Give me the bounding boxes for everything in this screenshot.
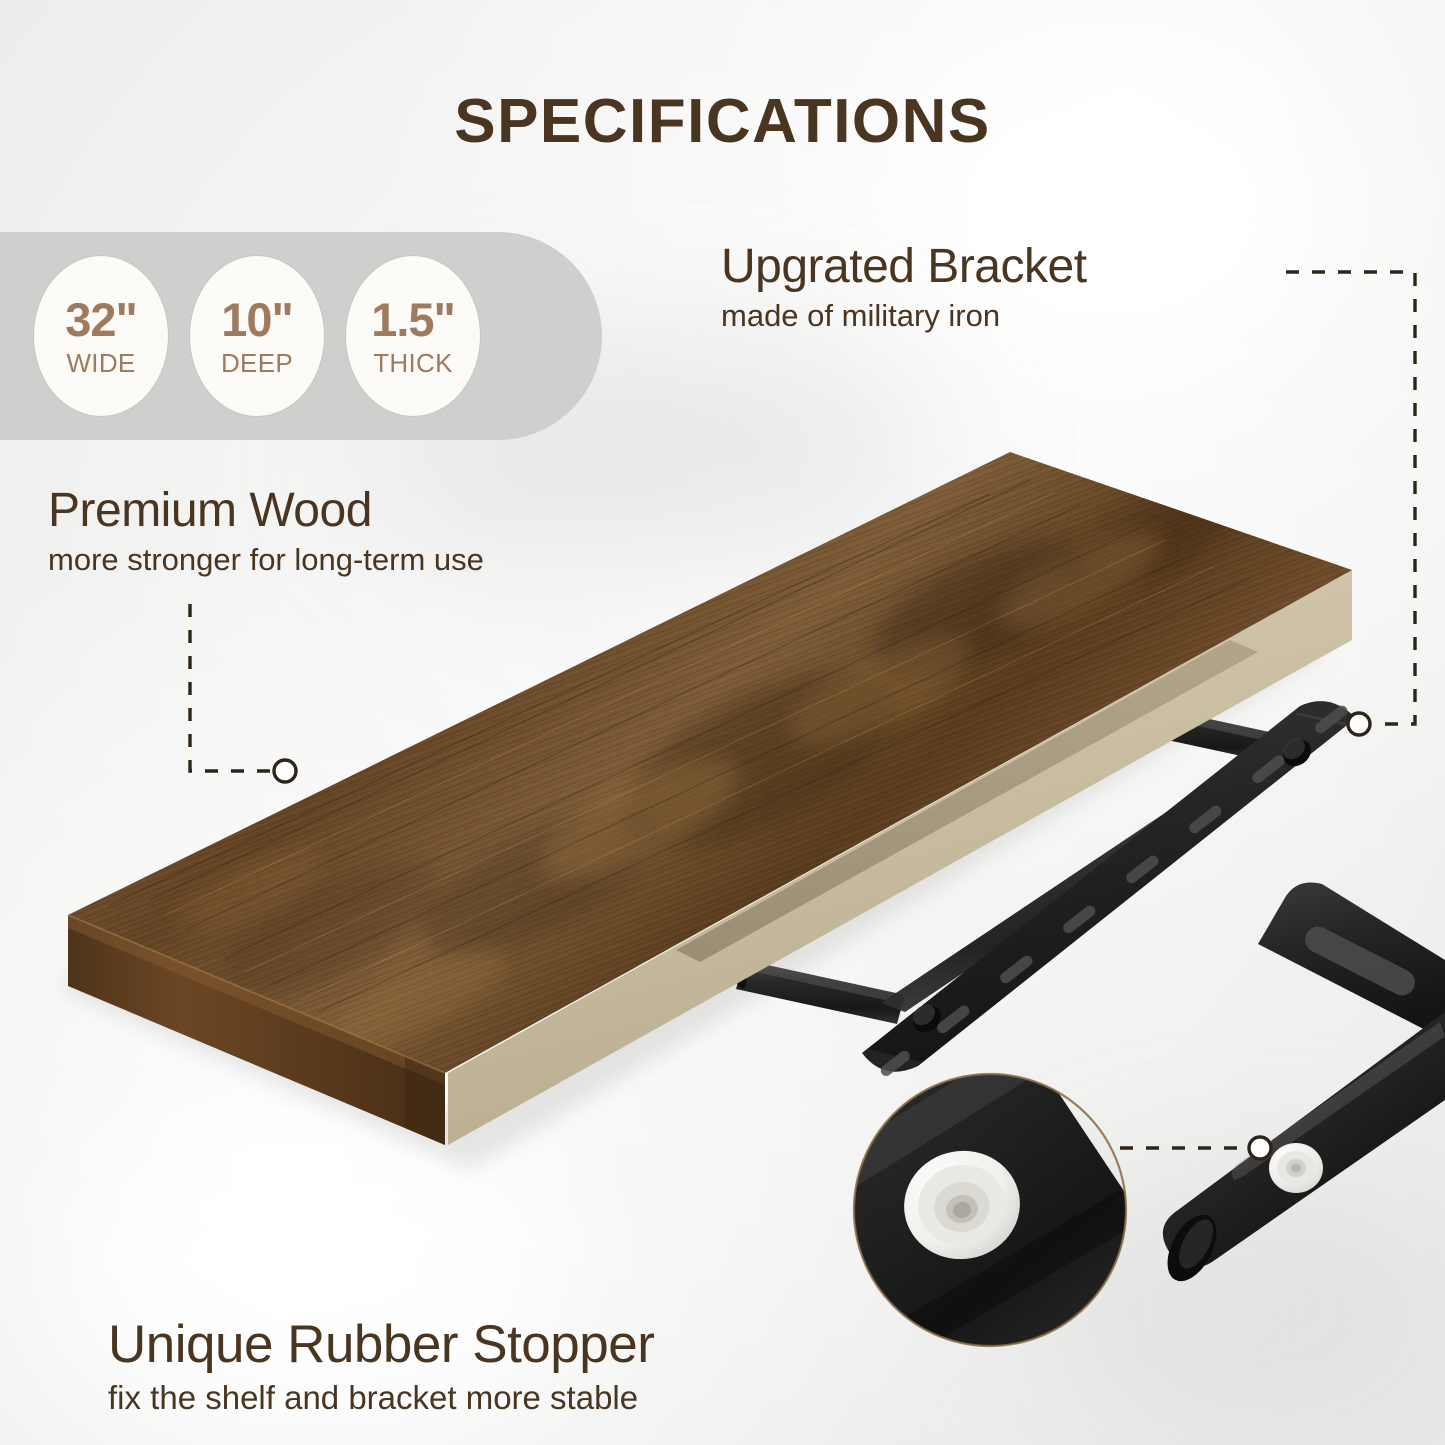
callout-subtitle: made of military iron [721, 298, 1087, 334]
infographic-canvas: SPECIFICATIONS 32" WIDE 10" DEEP 1.5" TH… [0, 0, 1445, 1445]
magnifier-detail-circle [790, 1020, 1190, 1420]
callout-title: Premium Wood [48, 486, 484, 536]
callout-subtitle: more stronger for long-term use [48, 542, 484, 578]
callout-wood: Premium Wood more stronger for long-term… [48, 486, 484, 578]
wall-bracket-secondary [1157, 883, 1445, 1290]
rubber-stopper [1269, 1143, 1323, 1193]
callout-title: Upgrated Bracket [721, 242, 1087, 292]
callout-bracket: Upgrated Bracket made of military iron [721, 242, 1087, 334]
callout-subtitle: fix the shelf and bracket more stable [108, 1379, 654, 1417]
callout-title: Unique Rubber Stopper [108, 1317, 654, 1373]
product-photo [0, 0, 1445, 1445]
callout-stopper: Unique Rubber Stopper fix the shelf and … [108, 1317, 654, 1417]
